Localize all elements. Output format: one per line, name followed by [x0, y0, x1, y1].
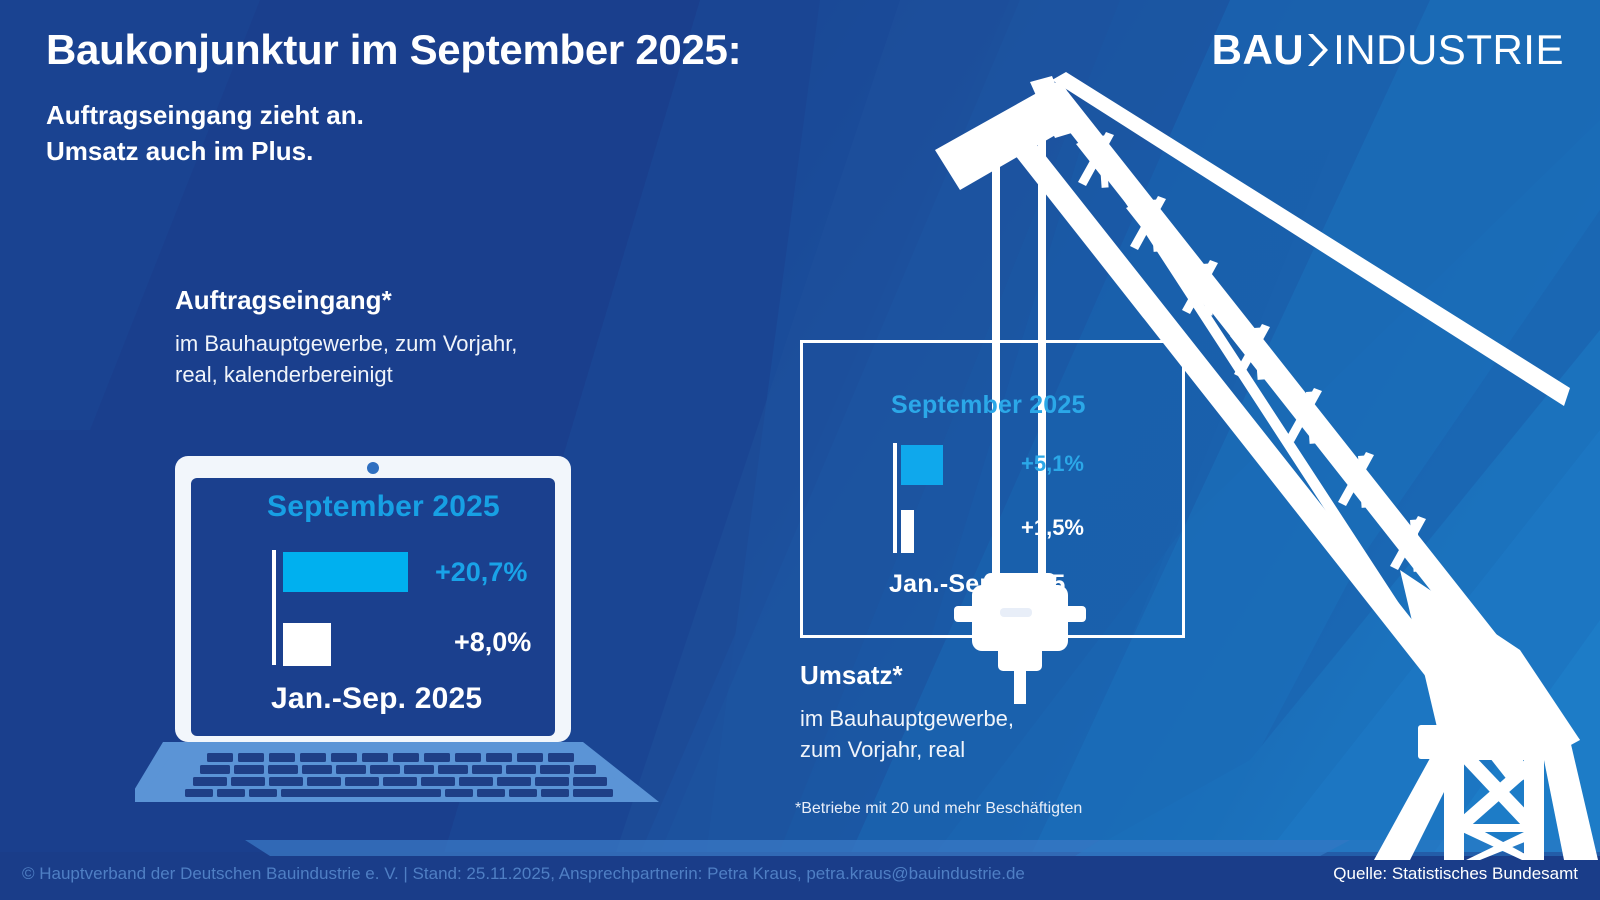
left-chart-value-september: +20,7%	[435, 557, 527, 588]
left-chart-period-label: Jan.-Sep. 2025	[271, 682, 482, 716]
right-chart-month-label: September 2025	[891, 391, 1086, 420]
footer-bar: © Hauptverband der Deutschen Bauindustri…	[0, 852, 1600, 900]
chevron-right-icon	[1305, 29, 1331, 71]
left-chart-bar-september	[283, 552, 408, 592]
page-subtitle: Auftragseingang zieht an. Umsatz auch im…	[46, 98, 364, 170]
auftragseingang-text-block: Auftragseingang* im Bauhauptgewerbe, zum…	[175, 285, 517, 390]
infographic-canvas: Baukonjunktur im September 2025: Auftrag…	[0, 0, 1600, 900]
footer-source: Quelle: Statistisches Bundesamt	[1333, 864, 1578, 884]
left-chart-axis	[272, 550, 276, 665]
footnote-text: *Betriebe mit 20 und mehr Beschäftigten	[795, 800, 1082, 818]
logo-industrie-text: INDUSTRIE	[1333, 26, 1564, 74]
left-chart-bar-jan-sep	[283, 623, 331, 666]
auftragseingang-desc-line-1: im Bauhauptgewerbe, zum Vorjahr,	[175, 328, 517, 359]
umsatz-text-block: Umsatz* im Bauhauptgewerbe, zum Vorjahr,…	[800, 660, 1014, 765]
footer-copyright-contact: © Hauptverband der Deutschen Bauindustri…	[22, 864, 1025, 884]
right-chart-bar-jan-sep	[901, 510, 914, 553]
umsatz-desc-line-2: zum Vorjahr, real	[800, 734, 1014, 765]
umsatz-chart: September 2025 +5,1% +1,5% Jan.-Sep. 202…	[800, 340, 1185, 638]
right-chart-axis	[893, 443, 897, 553]
logo-bau-text: BAU	[1212, 26, 1305, 74]
auftragseingang-desc-line-2: real, kalenderbereinigt	[175, 359, 517, 390]
right-chart-value-september: +5,1%	[1021, 451, 1084, 477]
bauindustrie-logo: BAU INDUSTRIE	[1212, 26, 1564, 74]
umsatz-heading: Umsatz*	[800, 660, 1014, 691]
auftragseingang-chart: September 2025 +20,7% +8,0% Jan.-Sep. 20…	[205, 490, 580, 740]
right-chart-bar-september	[901, 445, 943, 485]
auftragseingang-heading: Auftragseingang*	[175, 285, 517, 316]
subtitle-line-1: Auftragseingang zieht an.	[46, 98, 364, 134]
umsatz-desc-line-1: im Bauhauptgewerbe,	[800, 703, 1014, 734]
subtitle-line-2: Umsatz auch im Plus.	[46, 134, 364, 170]
left-chart-value-jan-sep: +8,0%	[454, 627, 531, 658]
page-title: Baukonjunktur im September 2025:	[46, 26, 741, 74]
right-chart-period-label: Jan.-Sep. 2025	[889, 570, 1066, 599]
left-chart-month-label: September 2025	[267, 490, 500, 524]
right-chart-value-jan-sep: +1,5%	[1021, 515, 1084, 541]
